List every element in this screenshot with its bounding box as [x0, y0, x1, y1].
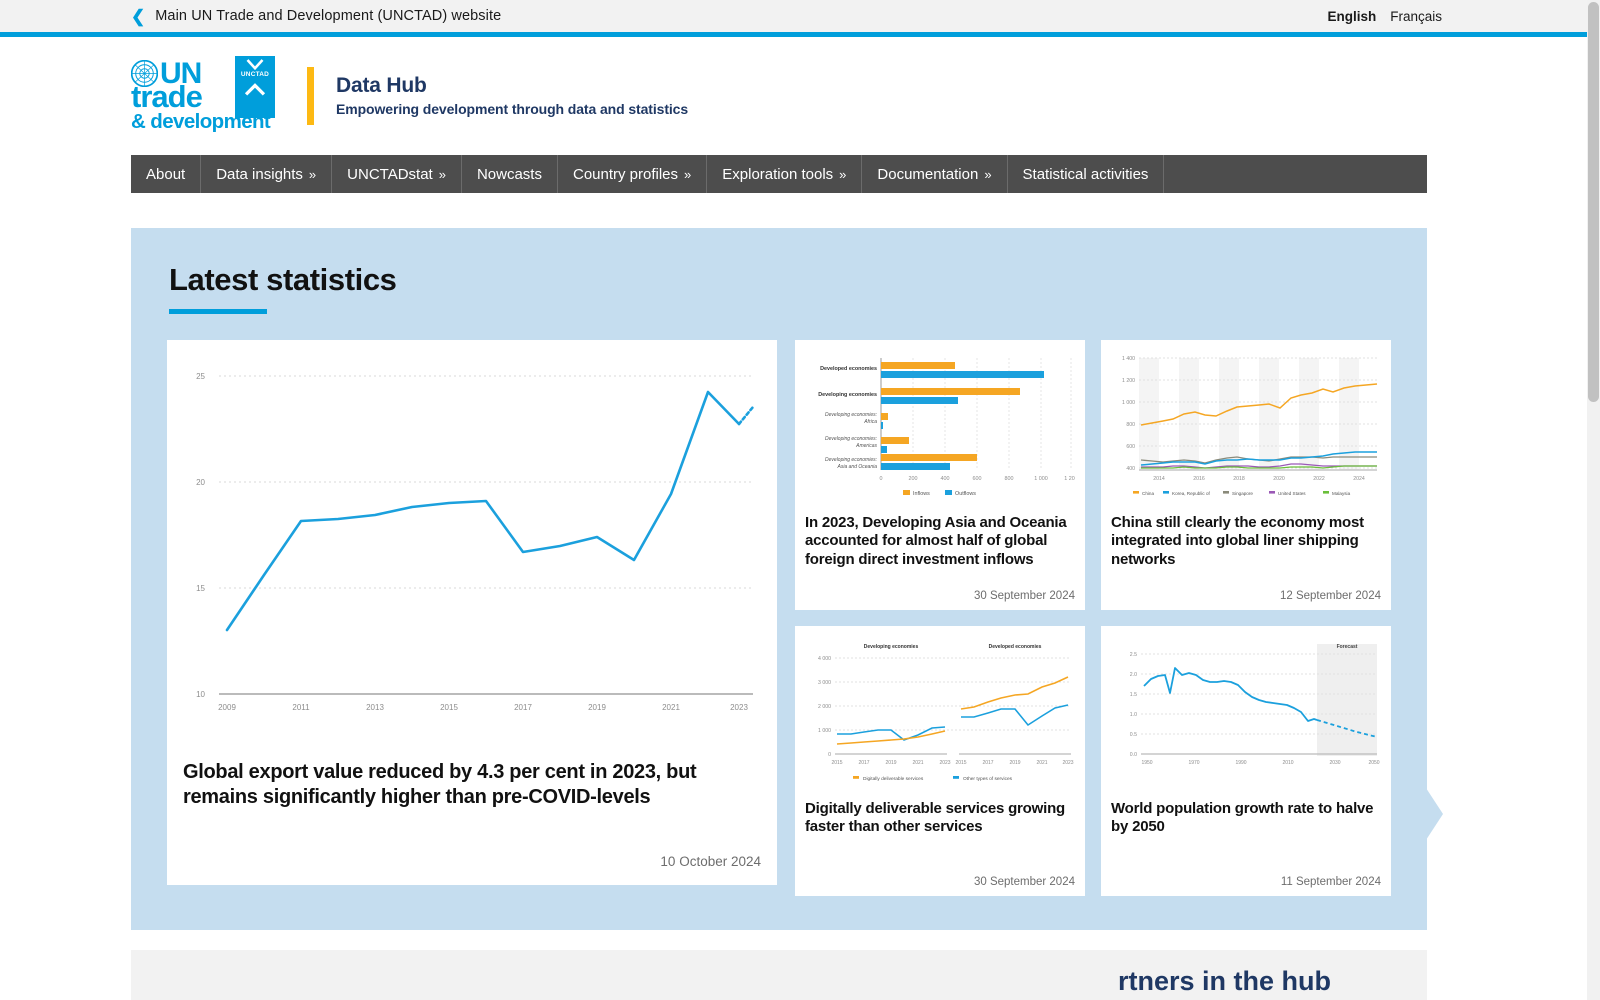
- svg-text:Developing economies:: Developing economies:: [825, 457, 878, 463]
- svg-text:2023: 2023: [939, 760, 950, 766]
- feature-chart: 25 20 15 10 2009 2011 2013 2015 2017 201…: [183, 362, 761, 722]
- svg-text:2020: 2020: [1273, 476, 1285, 482]
- svg-text:200: 200: [909, 476, 918, 482]
- svg-text:3 000: 3 000: [818, 680, 831, 686]
- svg-text:600: 600: [973, 476, 982, 482]
- submenu-chevron-icon: »: [984, 167, 991, 182]
- svg-text:Asia and Oceania: Asia and Oceania: [837, 464, 878, 470]
- submenu-chevron-icon: »: [309, 167, 316, 182]
- svg-text:Developing economies: Developing economies: [864, 644, 919, 650]
- brand-divider: [307, 67, 314, 125]
- submenu-chevron-icon: »: [839, 167, 846, 182]
- svg-text:600: 600: [1126, 444, 1135, 450]
- section-heading-underline: [169, 309, 267, 314]
- svg-text:1 000: 1 000: [1034, 476, 1048, 482]
- scrollbar-thumb[interactable]: [1588, 2, 1599, 402]
- nav-label: Documentation: [877, 166, 978, 183]
- nav-label: Exploration tools: [722, 166, 833, 183]
- svg-text:1950: 1950: [1141, 760, 1152, 766]
- svg-text:2010: 2010: [1282, 760, 1293, 766]
- unctad-v-glyph: [246, 59, 264, 70]
- svg-text:1 200: 1 200: [1064, 476, 1075, 482]
- submenu-chevron-icon: »: [439, 167, 446, 182]
- svg-text:2050: 2050: [1368, 760, 1379, 766]
- svg-text:2021: 2021: [912, 760, 923, 766]
- page-title: Data Hub: [336, 74, 688, 98]
- card-digitally-deliverable-services[interactable]: Developing economies Developed economies…: [795, 626, 1085, 896]
- svg-text:400: 400: [941, 476, 950, 482]
- svg-text:China: China: [1142, 491, 1154, 496]
- svg-text:1.0: 1.0: [1130, 712, 1137, 718]
- svg-text:2019: 2019: [588, 703, 606, 712]
- svg-text:0: 0: [880, 476, 883, 482]
- card-date: 12 September 2024: [1111, 590, 1381, 602]
- svg-text:2017: 2017: [514, 703, 532, 712]
- svg-text:Other types of services: Other types of services: [963, 776, 1013, 782]
- language-switcher: English Français: [1327, 9, 1442, 24]
- svg-text:2021: 2021: [662, 703, 680, 712]
- latest-statistics-section: Latest statistics 25 20: [131, 228, 1427, 930]
- svg-text:2019: 2019: [885, 760, 896, 766]
- services-chart: Developing economies Developed economies…: [805, 636, 1075, 786]
- svg-text:Developing economies:: Developing economies:: [825, 412, 878, 418]
- unctad-mark-label: UNCTAD: [241, 71, 269, 78]
- svg-text:1990: 1990: [1235, 760, 1246, 766]
- svg-text:800: 800: [1005, 476, 1014, 482]
- export-value-line-chart: 25 20 15 10 2009 2011 2013 2015 2017 201…: [183, 362, 761, 722]
- small-cards-row-1: Developed economies Developing economies…: [795, 340, 1391, 610]
- svg-text:0.0: 0.0: [1130, 752, 1137, 758]
- svg-text:Developed economies: Developed economies: [989, 644, 1042, 650]
- card-date: 11 September 2024: [1111, 876, 1381, 888]
- svg-text:0.5: 0.5: [1130, 732, 1137, 738]
- card-global-export-value[interactable]: 25 20 15 10 2009 2011 2013 2015 2017 201…: [167, 340, 777, 885]
- bottom-panel-heading: rtners in the hub: [1118, 966, 1331, 997]
- nav-item-statistical-activities[interactable]: Statistical activities: [1008, 155, 1165, 193]
- chevron-left-icon: ❮: [131, 8, 145, 25]
- svg-text:4 000: 4 000: [818, 656, 831, 662]
- svg-text:2022: 2022: [1313, 476, 1325, 482]
- nav-label: UNCTADstat: [347, 166, 433, 183]
- nav-label: Data insights: [216, 166, 303, 183]
- svg-text:2.5: 2.5: [1130, 652, 1137, 658]
- fdi-bar-chart: Developed economies Developing economies…: [805, 350, 1075, 500]
- card-title: China still clearly the economy most int…: [1111, 514, 1381, 569]
- svg-text:1.5: 1.5: [1130, 692, 1137, 698]
- card-date: 30 September 2024: [805, 590, 1075, 602]
- svg-text:20: 20: [196, 478, 205, 487]
- unctad-mark-icon: UNCTAD: [235, 56, 275, 118]
- nav-label: Nowcasts: [477, 166, 542, 183]
- nav-item-unctadstat[interactable]: UNCTADstat »: [332, 155, 462, 193]
- svg-text:2023: 2023: [730, 703, 748, 712]
- svg-text:400: 400: [1126, 466, 1135, 472]
- card-title: World population growth rate to halve by…: [1111, 800, 1381, 837]
- main-nav-wrapper: About Data insights » UNCTADstat » Nowca…: [0, 155, 1600, 193]
- main-nav: About Data insights » UNCTADstat » Nowca…: [131, 155, 1427, 193]
- nav-filler: [1164, 155, 1427, 193]
- svg-text:2014: 2014: [1153, 476, 1165, 482]
- nav-item-exploration-tools[interactable]: Exploration tools »: [707, 155, 862, 193]
- svg-text:25: 25: [196, 372, 205, 381]
- svg-text:Developed economies: Developed economies: [820, 366, 877, 372]
- svg-text:Singapore: Singapore: [1232, 491, 1253, 496]
- page-root: ❮ Main UN Trade and Development (UNCTAD)…: [0, 0, 1600, 1000]
- svg-text:Malaysia: Malaysia: [1332, 491, 1351, 496]
- language-english[interactable]: English: [1327, 9, 1376, 24]
- svg-text:Africa: Africa: [863, 419, 877, 425]
- nav-item-nowcasts[interactable]: Nowcasts: [462, 155, 558, 193]
- svg-text:2023: 2023: [1062, 760, 1073, 766]
- svg-text:2 000: 2 000: [818, 704, 831, 710]
- nav-item-documentation[interactable]: Documentation »: [862, 155, 1007, 193]
- population-growth-line-chart: Forecast 2.5 2.0: [1111, 636, 1381, 786]
- bottom-panel: rtners in the hub: [131, 950, 1427, 1000]
- small-cards-column: Developed economies Developing economies…: [795, 340, 1391, 896]
- svg-text:2015: 2015: [955, 760, 966, 766]
- site-title-block: Data Hub Empowering development through …: [336, 74, 688, 117]
- svg-text:2018: 2018: [1233, 476, 1245, 482]
- svg-text:10: 10: [196, 690, 205, 699]
- svg-text:1 000: 1 000: [818, 728, 831, 734]
- logo-block[interactable]: UN trade & development UNCTAD Data Hub E…: [131, 60, 688, 133]
- svg-text:Inflows: Inflows: [913, 491, 930, 497]
- svg-text:2011: 2011: [292, 703, 310, 712]
- unctad-caret-glyph: [244, 83, 266, 96]
- submenu-chevron-icon: »: [684, 167, 691, 182]
- utility-bar: ❮ Main UN Trade and Development (UNCTAD)…: [0, 0, 1600, 32]
- svg-text:Americas: Americas: [855, 443, 877, 449]
- nav-label: Country profiles: [573, 166, 678, 183]
- site-header: UN trade & development UNCTAD Data Hub E…: [0, 37, 1600, 155]
- svg-text:2024: 2024: [1353, 476, 1365, 482]
- svg-text:2015: 2015: [440, 703, 458, 712]
- services-line-chart: Developing economies Developed economies…: [805, 636, 1075, 786]
- svg-text:1970: 1970: [1188, 760, 1199, 766]
- card-liner-shipping[interactable]: 1 400 1 200 1 000 800 600 400 2014 2016 …: [1101, 340, 1391, 610]
- population-chart: Forecast 2.5 2.0: [1111, 636, 1381, 786]
- card-date: 30 September 2024: [805, 876, 1075, 888]
- svg-text:2017: 2017: [858, 760, 869, 766]
- card-date: 10 October 2024: [183, 854, 761, 869]
- svg-text:2016: 2016: [1193, 476, 1205, 482]
- main-site-link[interactable]: ❮ Main UN Trade and Development (UNCTAD)…: [131, 8, 501, 25]
- svg-text:1 200: 1 200: [1122, 378, 1135, 384]
- svg-text:2009: 2009: [218, 703, 236, 712]
- cards-grid: 25 20 15 10 2009 2011 2013 2015 2017 201…: [167, 340, 1427, 896]
- svg-text:1 400: 1 400: [1122, 356, 1135, 362]
- svg-text:Developing economies:: Developing economies:: [825, 436, 878, 442]
- section-arrow-decoration: [1426, 788, 1443, 840]
- card-title: Digitally deliverable services growing f…: [805, 800, 1075, 837]
- card-title: Global export value reduced by 4.3 per c…: [183, 760, 761, 810]
- card-fdi-inflows[interactable]: Developed economies Developing economies…: [795, 340, 1085, 610]
- card-title: In 2023, Developing Asia and Oceania acc…: [805, 514, 1075, 569]
- section-heading: Latest statistics: [169, 262, 1427, 298]
- svg-text:0: 0: [828, 752, 831, 758]
- nav-label: Statistical activities: [1023, 166, 1149, 183]
- language-francais[interactable]: Français: [1390, 9, 1442, 24]
- svg-text:Forecast: Forecast: [1337, 644, 1358, 650]
- nav-item-country-profiles[interactable]: Country profiles »: [558, 155, 707, 193]
- main-site-link-label: Main UN Trade and Development (UNCTAD) w…: [155, 8, 501, 24]
- nav-item-about[interactable]: About: [131, 155, 201, 193]
- site-tagline: Empowering development through data and …: [336, 101, 688, 117]
- nav-label: About: [146, 166, 185, 183]
- svg-text:800: 800: [1126, 422, 1135, 428]
- svg-text:United States: United States: [1278, 491, 1306, 496]
- svg-text:2019: 2019: [1009, 760, 1020, 766]
- svg-text:Korea, Republic of: Korea, Republic of: [1172, 491, 1211, 496]
- fdi-chart: Developed economies Developing economies…: [805, 350, 1075, 500]
- svg-text:2015: 2015: [831, 760, 842, 766]
- card-world-population-growth[interactable]: Forecast 2.5 2.0: [1101, 626, 1391, 896]
- svg-text:2030: 2030: [1329, 760, 1340, 766]
- svg-text:2.0: 2.0: [1130, 672, 1137, 678]
- nav-item-data-insights[interactable]: Data insights »: [201, 155, 332, 193]
- liner-shipping-line-chart: 1 400 1 200 1 000 800 600 400 2014 2016 …: [1111, 350, 1381, 500]
- svg-text:2021: 2021: [1036, 760, 1047, 766]
- svg-text:Developing economies: Developing economies: [818, 392, 877, 398]
- small-cards-row-2: Developing economies Developed economies…: [795, 626, 1391, 896]
- svg-text:Outflows: Outflows: [955, 491, 976, 497]
- shipping-chart: 1 400 1 200 1 000 800 600 400 2014 2016 …: [1111, 350, 1381, 500]
- svg-text:1 000: 1 000: [1122, 400, 1135, 406]
- page-scrollbar[interactable]: [1587, 0, 1600, 1000]
- feature-card-column: 25 20 15 10 2009 2011 2013 2015 2017 201…: [167, 340, 777, 896]
- svg-text:15: 15: [196, 584, 205, 593]
- svg-text:2017: 2017: [982, 760, 993, 766]
- svg-text:2013: 2013: [366, 703, 384, 712]
- svg-text:Digitally deliverable services: Digitally deliverable services: [863, 776, 924, 782]
